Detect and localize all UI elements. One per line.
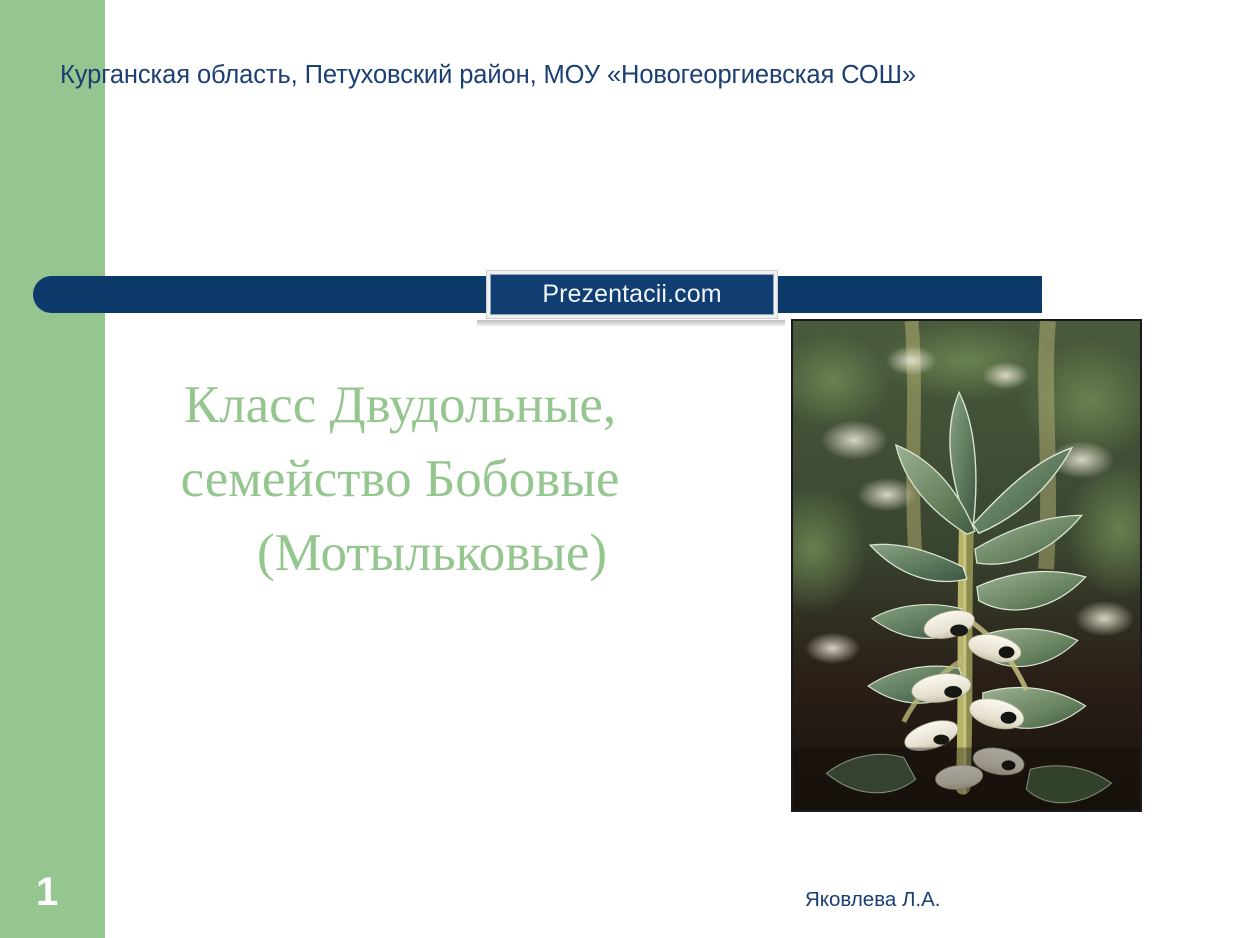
slide-title-line-2: семейство Бобовые (110, 442, 690, 516)
watermark-inner-plate: Prezentacii.com (490, 274, 774, 315)
slide-header-institution: Курганская область, Петуховский район, М… (60, 58, 1250, 92)
slide-title: Класс Двудольные, семейство Бобовые (Мот… (110, 368, 690, 590)
plant-photo-graphic (793, 321, 1140, 810)
slide-author: Яковлева Л.А. (805, 887, 940, 913)
slide-title-line-3: (Мотыльковые) (110, 516, 690, 590)
broad-bean-plant-photo (791, 319, 1142, 812)
watermark-label: Prezentacii.com (542, 280, 721, 309)
slide-canvas: Курганская область, Петуховский район, М… (0, 0, 1250, 938)
slide-title-line-1: Класс Двудольные, (110, 368, 690, 442)
watermark-plate: Prezentacii.com (486, 270, 778, 319)
slide-page-number: 1 (36, 869, 96, 915)
watermark-shadow (477, 320, 785, 326)
left-green-band (0, 0, 105, 938)
